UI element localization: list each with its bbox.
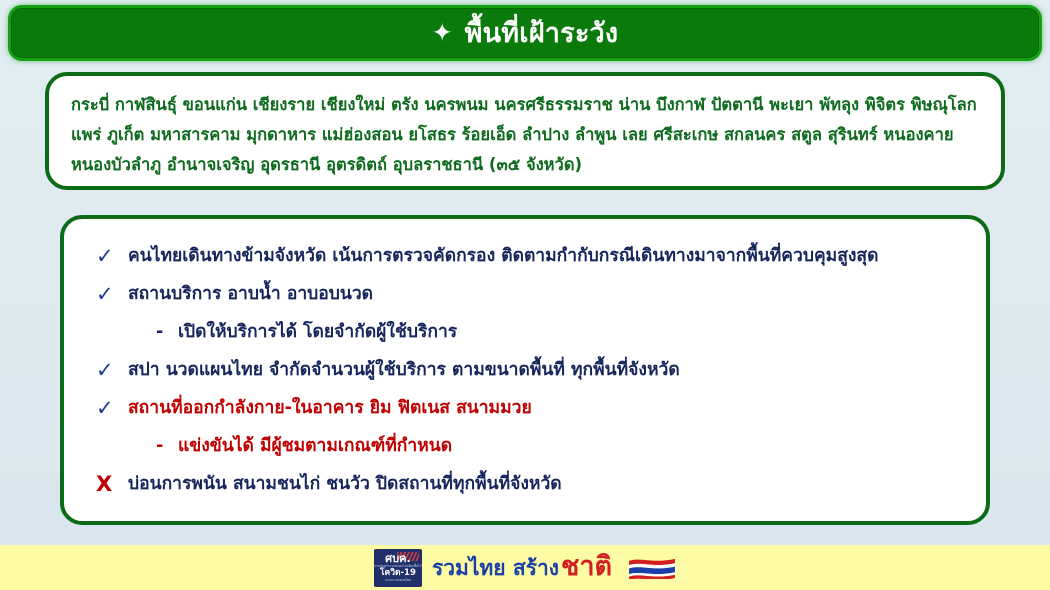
province-line-3: หนองบัวลำภู อำนาจเจริญ อุดรธานี อุตรดิตถ… [71, 150, 981, 180]
thai-flag-icon [628, 557, 676, 579]
slide-title-bar: ✦ พื้นที่เฝ้าระวัง [8, 5, 1042, 61]
footer-band: ศบค. ศูนย์บริหารสถานการณ์แพร่ระบาดของโรค… [0, 545, 1050, 590]
list-sub-item-label: แข่งขันได้ มีผู้ชมตามเกณฑ์ที่กำหนด [178, 431, 452, 461]
measures-panel: ✓ คนไทยเดินทางข้ามจังหวัด เน้นการตรวจคัด… [60, 215, 990, 525]
list-item: X บ่อนการพนัน สนามชนไก่ ชนวัว ปิดสถานที่… [94, 469, 968, 499]
page-title: พื้นที่เฝ้าระวัง [465, 20, 619, 47]
check-icon: ✓ [94, 355, 128, 385]
cross-icon: X [94, 469, 128, 499]
list-item-label: บ่อนการพนัน สนามชนไก่ ชนวัว ปิดสถานที่ทุ… [128, 469, 562, 499]
province-line-1: กระบี่ กาฬสินธุ์ ขอนแก่น เชียงราย เชียงใ… [71, 90, 981, 120]
province-line-2: แพร่ ภูเก็ต มหาสารคาม มุกดาหาร แม่ฮ่องสอ… [71, 120, 981, 150]
list-item-label: คนไทยเดินทางข้ามจังหวัด เน้นการตรวจคัดกร… [128, 241, 878, 271]
dash-icon: - [156, 431, 178, 461]
list-item-label: สถานบริการ อาบน้ำ อาบอบนวด [128, 279, 373, 309]
slide-canvas: ✦ พื้นที่เฝ้าระวัง กระบี่ กาฬสินธุ์ ขอนแ… [0, 0, 1050, 590]
list-sub-item: - แข่งขันได้ มีผู้ชมตามเกณฑ์ที่กำหนด [94, 431, 968, 461]
diamond-bullet-icon: ✦ [432, 20, 453, 45]
province-list-panel: กระบี่ กาฬสินธุ์ ขอนแก่น เชียงราย เชียงใ… [45, 72, 1005, 190]
dash-icon: - [156, 317, 178, 347]
list-item: ✓ สถานบริการ อาบน้ำ อาบอบนวด [94, 279, 968, 309]
logo-main-text: ศบค. [385, 553, 411, 564]
list-item-label: สถานที่ออกกำลังกาย-ในอาคาร ยิม ฟิตเนส สน… [128, 393, 532, 423]
slogan-part-1: รวมไทย สร้าง [432, 555, 559, 581]
cca-logo: ศบค. ศูนย์บริหารสถานการณ์แพร่ระบาดของโรค… [374, 549, 422, 587]
logo-sub-text: โควิด-19 [380, 568, 416, 578]
list-sub-item: - เปิดให้บริการได้ โดยจำกัดผู้ใช้บริการ [94, 317, 968, 347]
check-icon: ✓ [94, 241, 128, 271]
footer-slogan: รวมไทย สร้าง ชาติ [432, 554, 612, 581]
logo-caption-text: กระทรวงมหาดไทย [385, 578, 411, 582]
list-item-label: สปา นวดแผนไทย จำกัดจำนวนผู้ใช้บริการ ตาม… [128, 355, 680, 385]
list-sub-item-label: เปิดให้บริการได้ โดยจำกัดผู้ใช้บริการ [178, 317, 457, 347]
slogan-part-2: ชาติ [561, 554, 612, 580]
check-icon: ✓ [94, 393, 128, 423]
list-item: ✓ สถานที่ออกกำลังกาย-ในอาคาร ยิม ฟิตเนส … [94, 393, 968, 423]
list-item: ✓ สปา นวดแผนไทย จำกัดจำนวนผู้ใช้บริการ ต… [94, 355, 968, 385]
check-icon: ✓ [94, 279, 128, 309]
list-item: ✓ คนไทยเดินทางข้ามจังหวัด เน้นการตรวจคัด… [94, 241, 968, 271]
